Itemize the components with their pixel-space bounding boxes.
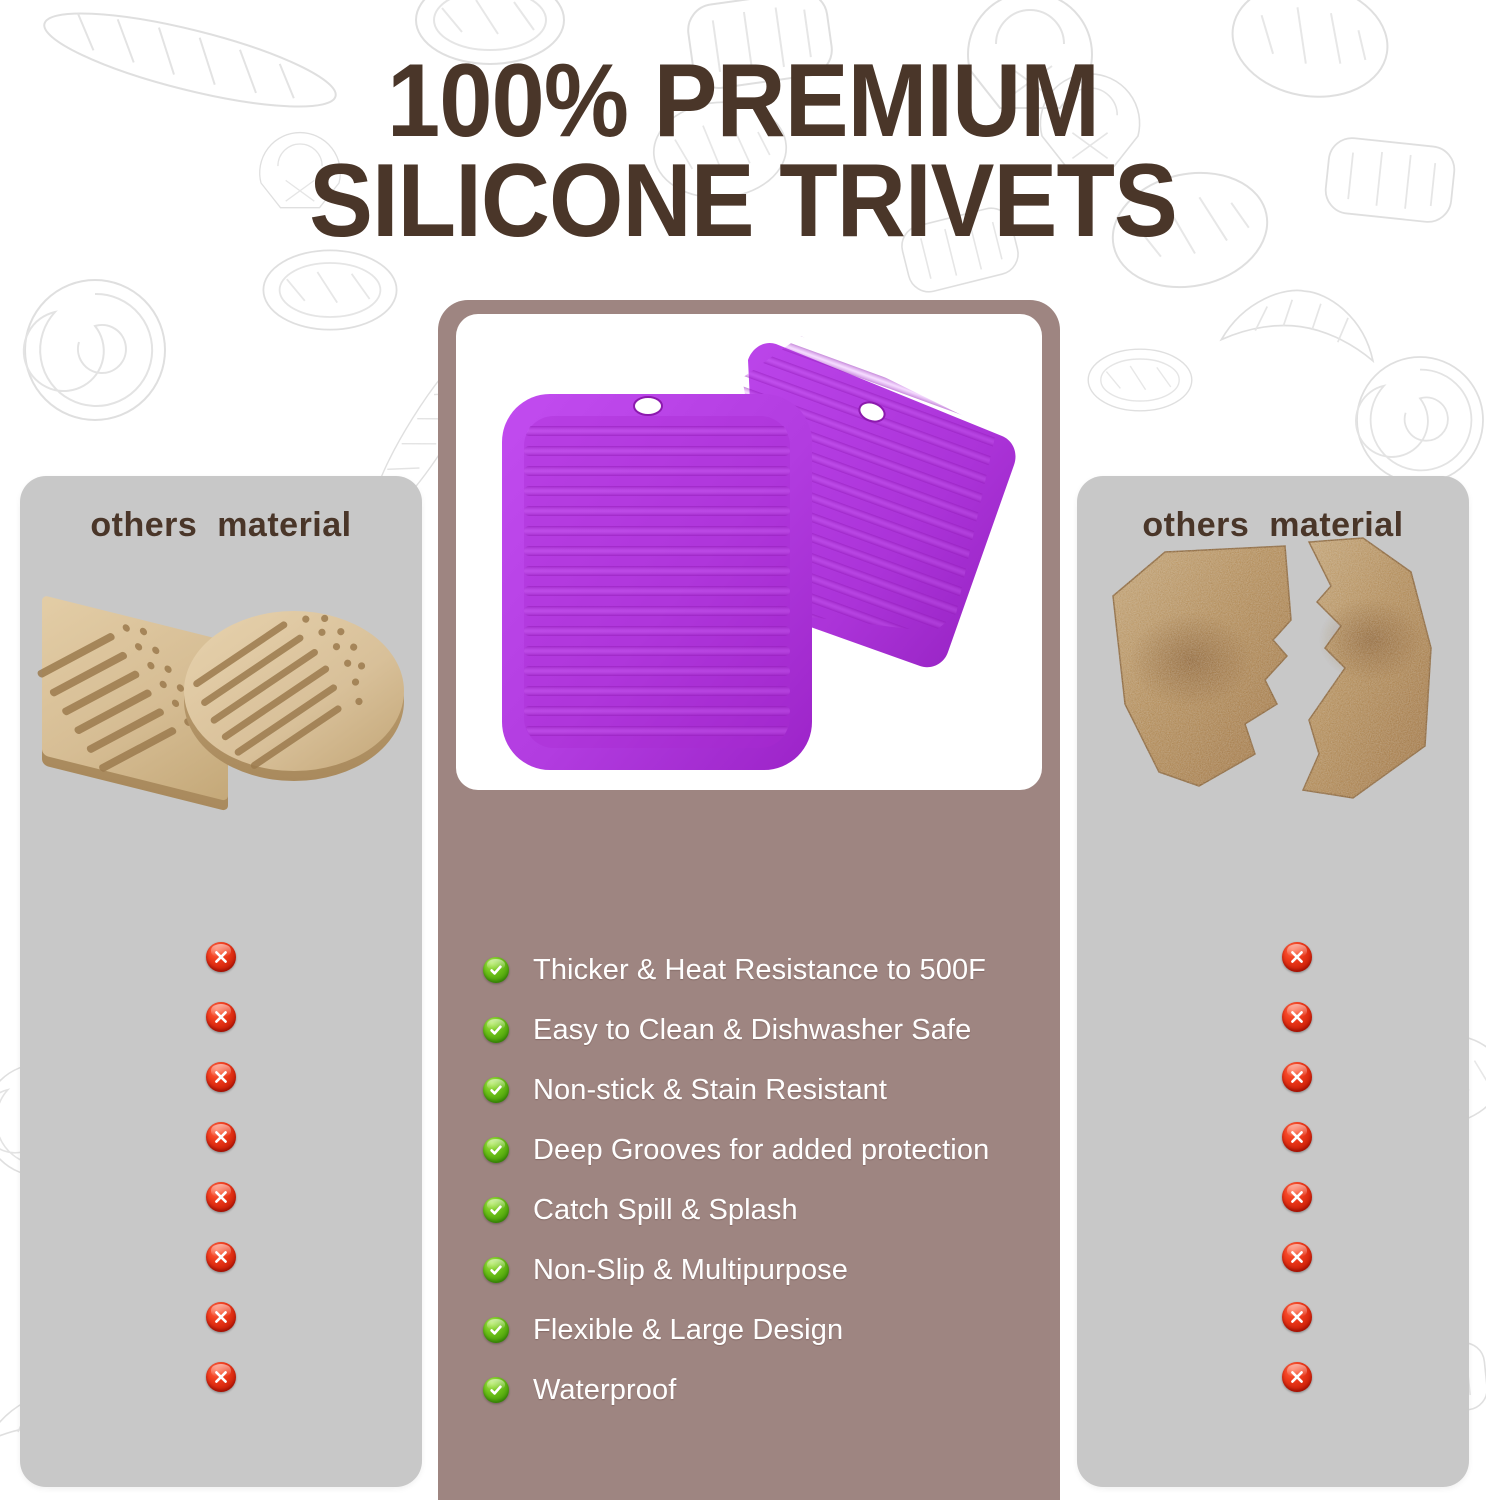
cross-icon <box>1282 1182 1312 1212</box>
feature-item: Waterproof <box>483 1360 1043 1420</box>
check-icon <box>483 1197 509 1223</box>
cross-icon <box>206 1182 236 1212</box>
cross-mark <box>206 1122 236 1152</box>
check-icon <box>483 957 509 983</box>
cross-mark <box>1282 1122 1312 1152</box>
feature-item: Non-Slip & Multipurpose <box>483 1240 1043 1300</box>
title-line-2: SILICONE TRIVETS <box>59 152 1426 252</box>
cross-mark <box>1282 1062 1312 1092</box>
cross-icon <box>1282 1122 1312 1152</box>
cross-icon <box>1282 1062 1312 1092</box>
cross-icon <box>1282 1362 1312 1392</box>
feature-item: Thicker & Heat Resistance to 500F <box>483 940 1043 1000</box>
cross-mark <box>206 1182 236 1212</box>
feature-label: Deep Grooves for added protection <box>533 1134 989 1167</box>
cross-mark <box>206 1302 236 1332</box>
cross-icon <box>1282 1002 1312 1032</box>
cross-mark <box>1282 1302 1312 1332</box>
feature-list: Thicker & Heat Resistance to 500F Easy t… <box>483 940 1043 1420</box>
cross-icon <box>206 1062 236 1092</box>
feature-label: Thicker & Heat Resistance to 500F <box>533 954 986 987</box>
product-panel: Thicker & Heat Resistance to 500F Easy t… <box>438 300 1060 1500</box>
feature-item: Flexible & Large Design <box>483 1300 1043 1360</box>
feature-label: Non-Slip & Multipurpose <box>533 1254 848 1287</box>
cross-mark <box>1282 942 1312 972</box>
left-cross-column <box>20 476 422 1487</box>
feature-label: Non-stick & Stain Resistant <box>533 1074 887 1107</box>
cross-icon <box>206 1362 236 1392</box>
cross-mark <box>206 1062 236 1092</box>
cross-mark <box>1282 1002 1312 1032</box>
cross-mark <box>1282 1242 1312 1272</box>
cross-mark <box>206 1002 236 1032</box>
check-icon <box>483 1317 509 1343</box>
cross-icon <box>206 1002 236 1032</box>
cross-icon <box>1282 1302 1312 1332</box>
page-title: 100% PREMIUM SILICONE TRIVETS <box>0 52 1486 252</box>
cross-mark <box>206 942 236 972</box>
cross-icon <box>1282 942 1312 972</box>
cross-icon <box>1282 1242 1312 1272</box>
feature-item: Easy to Clean & Dishwasher Safe <box>483 1000 1043 1060</box>
check-icon <box>483 1257 509 1283</box>
feature-label: Easy to Clean & Dishwasher Safe <box>533 1014 971 1047</box>
cross-icon <box>206 1302 236 1332</box>
cross-icon <box>206 942 236 972</box>
cross-mark <box>206 1362 236 1392</box>
comparison-panel-left: others material <box>20 476 422 1487</box>
cross-icon <box>206 1242 236 1272</box>
right-cross-column <box>1077 476 1469 1487</box>
check-icon <box>483 1137 509 1163</box>
check-icon <box>483 1377 509 1403</box>
check-icon <box>483 1077 509 1103</box>
feature-label: Waterproof <box>533 1374 676 1407</box>
cross-icon <box>206 1122 236 1152</box>
cross-mark <box>1282 1362 1312 1392</box>
feature-item: Deep Grooves for added protection <box>483 1120 1043 1180</box>
feature-label: Catch Spill & Splash <box>533 1194 798 1227</box>
silicone-trivets-image <box>456 314 1042 790</box>
feature-item: Non-stick & Stain Resistant <box>483 1060 1043 1120</box>
feature-item: Catch Spill & Splash <box>483 1180 1043 1240</box>
cross-mark <box>1282 1182 1312 1212</box>
cross-mark <box>206 1242 236 1272</box>
comparison-panel-right: others material <box>1077 476 1469 1487</box>
feature-label: Flexible & Large Design <box>533 1314 843 1347</box>
check-icon <box>483 1017 509 1043</box>
title-line-1: 100% PREMIUM <box>59 52 1426 152</box>
